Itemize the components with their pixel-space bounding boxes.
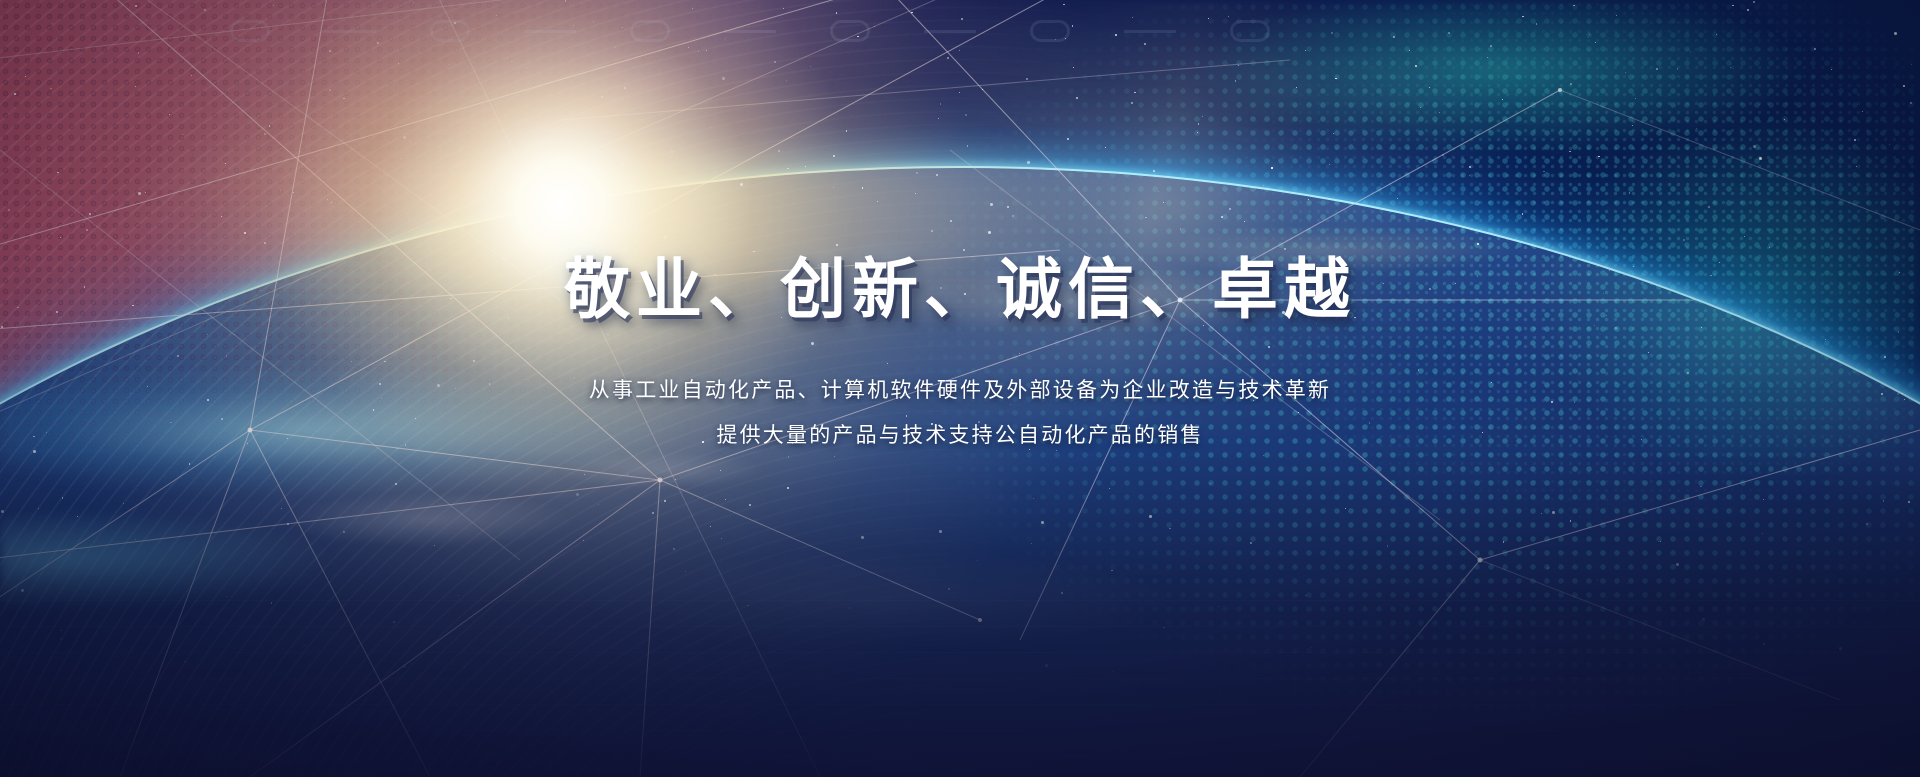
banner-subtitle-line-1: 从事工业自动化产品、计算机软件硬件及外部设备为企业改造与技术革新 bbox=[589, 374, 1331, 404]
banner-subtitle-line-2: 提供大量的产品与技术支持公自动化产品的销售 bbox=[716, 419, 1203, 449]
banner-copy-block: 敬业、创新、诚信、卓越 从事工业自动化产品、计算机软件硬件及外部设备为企业改造与… bbox=[0, 252, 1920, 449]
banner-headline: 敬业、创新、诚信、卓越 bbox=[564, 252, 1356, 328]
hero-banner: 敬业、创新、诚信、卓越 从事工业自动化产品、计算机软件硬件及外部设备为企业改造与… bbox=[0, 0, 1920, 777]
